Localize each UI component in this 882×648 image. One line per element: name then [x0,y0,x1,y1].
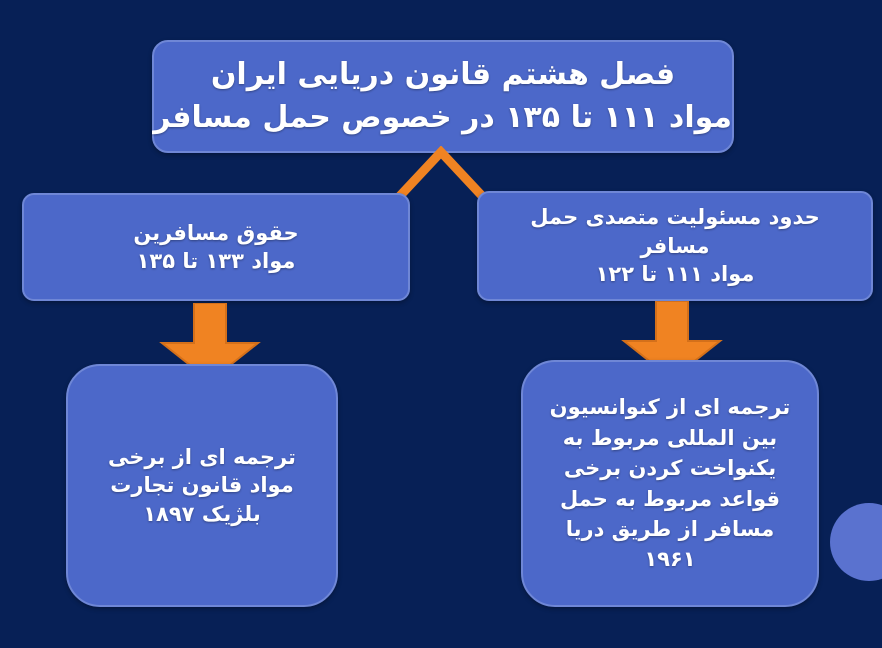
passenger-rights-node-text: حقوق مسافرین مواد ۱۳۳ تا ۱۳۵ [24,219,408,276]
passenger-rights-line-2: مواد ۱۳۳ تا ۱۳۵ [34,247,398,275]
convention-line-5: مسافر از طریق دریا [533,514,807,544]
belgium-line-1: ترجمه ای از برخی [78,443,326,471]
convention-line-6: ۱۹۶۱ [533,544,807,574]
international-convention-text: ترجمه ای از کنوانسیون بین المللی مربوط ب… [523,392,817,575]
passenger-rights-node[interactable]: حقوق مسافرین مواد ۱۳۳ تا ۱۳۵ [22,193,410,301]
belgium-commercial-code-text: ترجمه ای از برخی مواد قانون تجارت بلژیک … [68,443,336,528]
carrier-liability-node[interactable]: حدود مسئولیت متصدی حمل مسافر مواد ۱۱۱ تا… [477,191,873,301]
convention-line-3: یکنواخت کردن برخی [533,453,807,483]
title-node-text: فصل هشتم قانون دریایی ایران مواد ۱۱۱ تا … [144,54,742,139]
title-node[interactable]: فصل هشتم قانون دریایی ایران مواد ۱۱۱ تا … [152,40,734,153]
belgium-line-3: بلژیک ۱۸۹۷ [78,500,326,528]
branch-v-connector-icon [392,146,492,202]
international-convention-node[interactable]: ترجمه ای از کنوانسیون بین المللی مربوط ب… [521,360,819,607]
slide-canvas: فصل هشتم قانون دریایی ایران مواد ۱۱۱ تا … [0,0,882,648]
carrier-liability-line-2: مسافر [489,232,861,260]
carrier-liability-line-1: حدود مسئولیت متصدی حمل [489,203,861,231]
carrier-liability-line-3: مواد ۱۱۱ تا ۱۲۲ [489,260,861,288]
passenger-rights-line-1: حقوق مسافرین [34,219,398,247]
belgium-commercial-code-node[interactable]: ترجمه ای از برخی مواد قانون تجارت بلژیک … [66,364,338,607]
convention-line-2: بین المللی مربوط به [533,423,807,453]
title-node-line-2: مواد ۱۱۱ تا ۱۳۵ در خصوص حمل مسافر [154,97,732,140]
convention-line-4: قواعد مربوط به حمل [533,484,807,514]
belgium-line-2: مواد قانون تجارت [78,471,326,499]
convention-line-1: ترجمه ای از کنوانسیون [533,392,807,422]
carrier-liability-node-text: حدود مسئولیت متصدی حمل مسافر مواد ۱۱۱ تا… [479,203,871,288]
title-node-line-1: فصل هشتم قانون دریایی ایران [154,54,732,97]
decorative-circle-icon [830,503,882,581]
